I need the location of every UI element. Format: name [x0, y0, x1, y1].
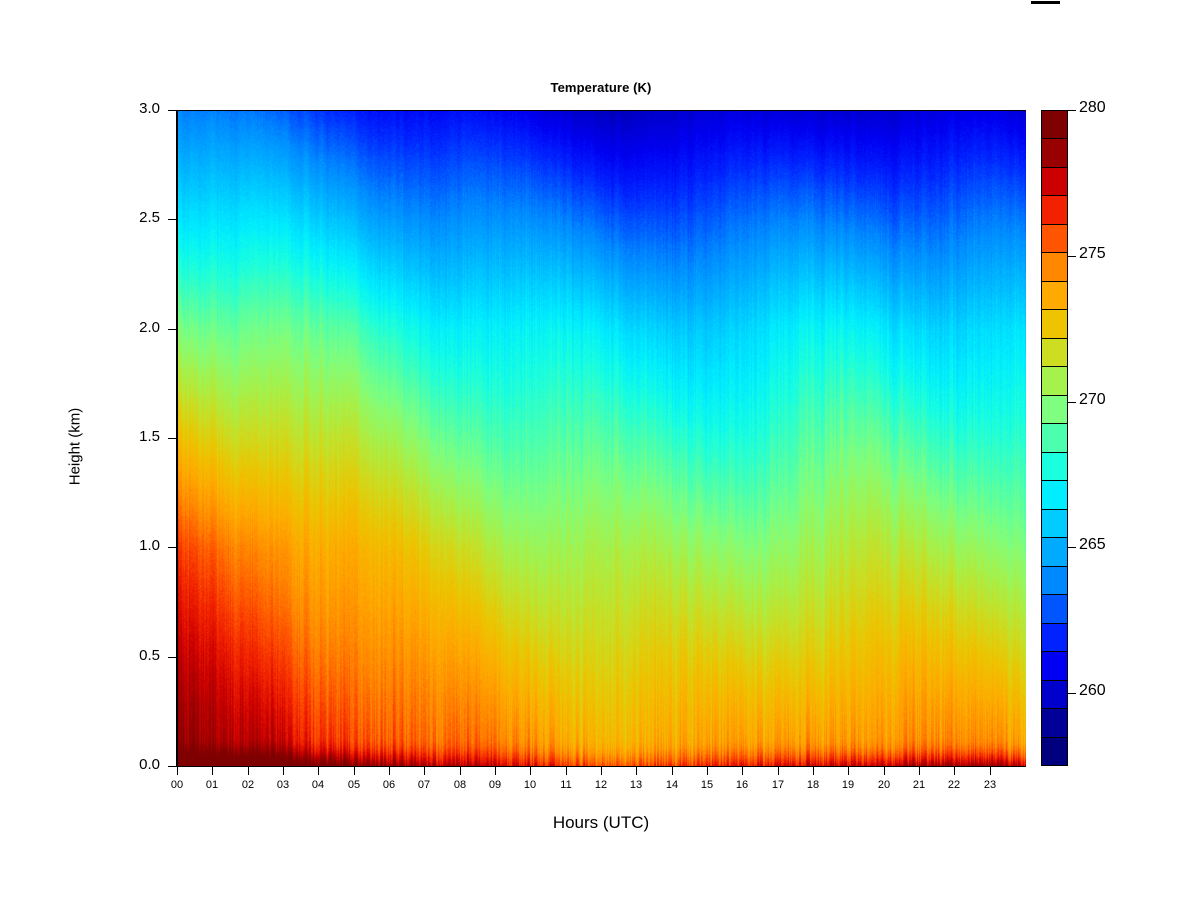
x-tick-mark	[566, 767, 567, 775]
colorbar-block	[1042, 423, 1067, 451]
x-tick-label: 23	[975, 779, 1005, 791]
colorbar-tick-mark	[1068, 402, 1076, 403]
x-tick-label: 06	[374, 779, 404, 791]
x-tick-label: 22	[939, 779, 969, 791]
colorbar-block	[1042, 281, 1067, 309]
colorbar-block	[1042, 594, 1067, 622]
y-tick-label: 2.0	[139, 319, 160, 336]
x-axis-title: Hours (UTC)	[177, 813, 1025, 833]
colorbar-block	[1042, 623, 1067, 651]
colorbar-block	[1042, 651, 1067, 679]
x-tick-label: 09	[480, 779, 510, 791]
x-tick-mark	[283, 767, 284, 775]
colorbar-block	[1042, 167, 1067, 195]
x-tick-label: 07	[409, 779, 439, 791]
x-tick-mark	[318, 767, 319, 775]
x-tick-label: 03	[268, 779, 298, 791]
y-tick-label: 1.0	[139, 537, 160, 554]
x-tick-label: 14	[657, 779, 687, 791]
heatmap-canvas	[178, 111, 1026, 767]
colorbar-block	[1042, 509, 1067, 537]
x-tick-mark	[424, 767, 425, 775]
x-tick-mark	[389, 767, 390, 775]
x-tick-label: 19	[833, 779, 863, 791]
temperature-time-height-figure: Temperature (K) 0.00.51.01.52.02.53.0 00…	[0, 0, 1200, 900]
colorbar-block	[1042, 138, 1067, 166]
x-tick-mark	[954, 767, 955, 775]
colorbar-tick-mark	[1068, 256, 1076, 257]
chart-title: Temperature (K)	[177, 80, 1025, 95]
x-tick-label: 01	[197, 779, 227, 791]
x-tick-label: 10	[515, 779, 545, 791]
x-tick-mark	[495, 767, 496, 775]
colorbar-block	[1042, 111, 1067, 138]
x-tick-mark	[813, 767, 814, 775]
colorbar-block	[1042, 395, 1067, 423]
y-tick-mark	[168, 110, 176, 111]
colorbar-block	[1042, 224, 1067, 252]
x-tick-mark	[990, 767, 991, 775]
colorbar-tick-label: 270	[1079, 391, 1106, 409]
x-tick-label: 17	[763, 779, 793, 791]
x-tick-mark	[778, 767, 779, 775]
x-tick-mark	[248, 767, 249, 775]
x-tick-label: 12	[586, 779, 616, 791]
colorbar-block	[1042, 566, 1067, 594]
heatmap-plot-area	[177, 110, 1026, 767]
x-tick-mark	[601, 767, 602, 775]
y-tick-label: 0.5	[139, 647, 160, 664]
colorbar-tick-mark	[1068, 110, 1076, 111]
colorbar-block	[1042, 708, 1067, 736]
colorbar-block	[1042, 480, 1067, 508]
colorbar-tick-label: 280	[1079, 99, 1106, 117]
y-tick-mark	[168, 219, 176, 220]
y-tick-label: 0.0	[139, 756, 160, 773]
colorbar-tick-label: 265	[1079, 536, 1106, 554]
x-tick-mark	[212, 767, 213, 775]
x-tick-mark	[884, 767, 885, 775]
y-tick-label: 1.5	[139, 428, 160, 445]
x-tick-label: 08	[445, 779, 475, 791]
colorbar-tick-label: 275	[1079, 245, 1106, 263]
x-tick-label: 11	[551, 779, 581, 791]
x-tick-label: 02	[233, 779, 263, 791]
x-tick-mark	[707, 767, 708, 775]
x-tick-label: 16	[727, 779, 757, 791]
y-axis-title: Height (km)	[67, 367, 84, 527]
x-tick-label: 04	[303, 779, 333, 791]
x-tick-mark	[530, 767, 531, 775]
x-tick-mark	[848, 767, 849, 775]
x-tick-mark	[177, 767, 178, 775]
colorbar-block	[1042, 195, 1067, 223]
colorbar-block	[1042, 452, 1067, 480]
x-tick-mark	[919, 767, 920, 775]
x-tick-mark	[354, 767, 355, 775]
top-edge-artifact	[1031, 1, 1060, 4]
x-tick-label: 21	[904, 779, 934, 791]
x-tick-mark	[742, 767, 743, 775]
x-tick-label: 05	[339, 779, 369, 791]
y-tick-mark	[168, 766, 176, 767]
colorbar-block	[1042, 366, 1067, 394]
x-tick-label: 20	[869, 779, 899, 791]
colorbar-block	[1042, 680, 1067, 708]
x-tick-label: 00	[162, 779, 192, 791]
x-tick-mark	[636, 767, 637, 775]
colorbar	[1041, 110, 1068, 766]
y-tick-mark	[168, 438, 176, 439]
x-tick-label: 13	[621, 779, 651, 791]
colorbar-tick-mark	[1068, 693, 1076, 694]
colorbar-block	[1042, 537, 1067, 565]
y-tick-mark	[168, 657, 176, 658]
colorbar-tick-label: 260	[1079, 682, 1106, 700]
x-tick-label: 15	[692, 779, 722, 791]
y-tick-mark	[168, 329, 176, 330]
y-tick-label: 2.5	[139, 209, 160, 226]
y-tick-mark	[168, 547, 176, 548]
colorbar-tick-mark	[1068, 547, 1076, 548]
colorbar-block	[1042, 252, 1067, 280]
x-tick-mark	[672, 767, 673, 775]
y-tick-label: 3.0	[139, 100, 160, 117]
colorbar-block	[1042, 338, 1067, 366]
colorbar-block	[1042, 309, 1067, 337]
x-tick-mark	[460, 767, 461, 775]
x-tick-label: 18	[798, 779, 828, 791]
y-axis-line	[176, 110, 177, 767]
colorbar-block	[1042, 737, 1067, 765]
